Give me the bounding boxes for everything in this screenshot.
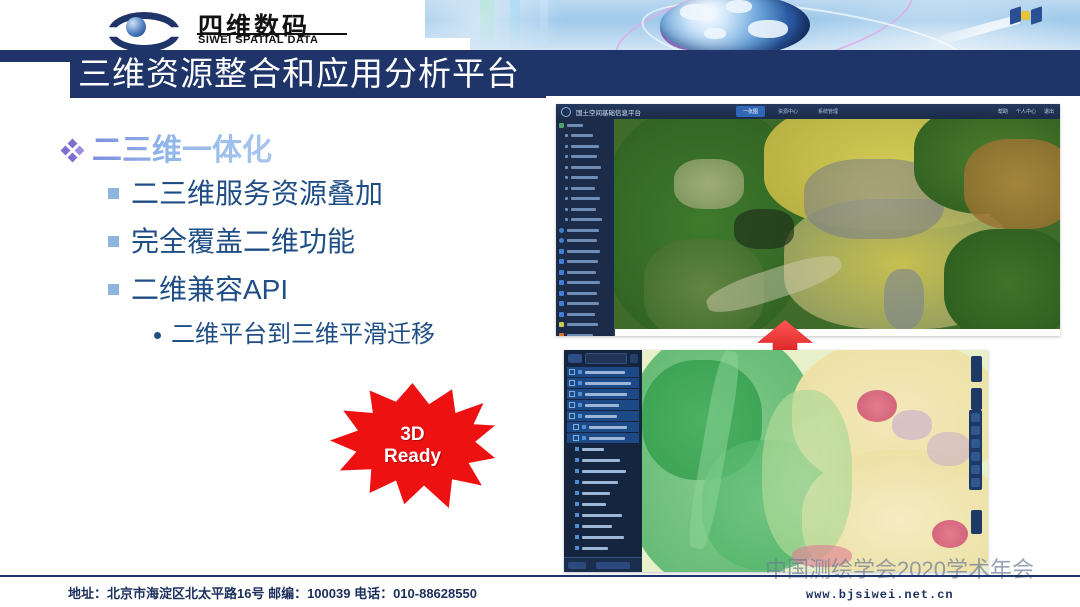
logout-action[interactable]: 退出 <box>1044 108 1054 115</box>
tree-group-row[interactable] <box>567 422 639 432</box>
tree-leaf-row[interactable] <box>567 510 639 520</box>
expand-icon[interactable] <box>573 424 579 430</box>
checkbox-icon[interactable] <box>575 535 579 539</box>
bullet-level1-label: 二三维一体化 <box>92 132 272 170</box>
zoom-icon[interactable] <box>971 465 980 474</box>
banner-light-ray <box>480 0 494 50</box>
checkbox-icon[interactable] <box>575 546 579 550</box>
checkbox-icon[interactable] <box>575 524 579 528</box>
sidebar-item[interactable] <box>559 257 611 266</box>
expand-icon[interactable] <box>569 402 575 408</box>
checkbox-icon[interactable] <box>575 491 579 495</box>
bullet-list: 二三维一体化 二三维服务资源叠加 完全覆盖二维功能 二维兼容API 二维平台到三… <box>62 132 532 358</box>
sidebar-item[interactable] <box>559 331 611 337</box>
bullet-level2: 完全覆盖二维功能 <box>108 220 532 268</box>
tab-resource-center[interactable]: 资源中心 <box>771 106 805 117</box>
globe-icon <box>561 107 571 117</box>
tree-group-row[interactable] <box>567 400 639 410</box>
checkbox-icon[interactable] <box>578 392 582 396</box>
app-nav-tabs: 一张图 资源中心 系统管理 <box>736 106 845 117</box>
badge-text: 3D Ready <box>330 383 495 508</box>
square-bullet-icon <box>108 236 119 247</box>
sidebar-item[interactable] <box>559 268 611 277</box>
tree-leaf-row[interactable] <box>567 488 639 498</box>
tree-leaf-row[interactable] <box>567 455 639 465</box>
sidebar-item[interactable] <box>559 310 611 319</box>
sidebar-item[interactable] <box>559 152 611 161</box>
title-bar-notch <box>0 62 70 96</box>
map-label-tag <box>971 388 982 410</box>
tree-leaf-row[interactable] <box>567 466 639 476</box>
sidebar-item[interactable] <box>559 278 611 287</box>
app-header-actions: 帮助 个人中心 退出 <box>998 108 1054 115</box>
footer-divider <box>756 575 1080 577</box>
bullet-level1: 二三维一体化 <box>62 132 532 172</box>
tree-group-row[interactable] <box>567 367 639 377</box>
checkbox-icon[interactable] <box>578 370 582 374</box>
map-toolbar[interactable] <box>969 410 982 490</box>
layers-icon[interactable] <box>971 413 980 422</box>
checkbox-icon[interactable] <box>575 447 579 451</box>
tree-leaf-row[interactable] <box>567 532 639 542</box>
tab-system-admin[interactable]: 系统管理 <box>811 106 845 117</box>
marker-icon[interactable] <box>971 439 980 448</box>
checkbox-icon[interactable] <box>582 436 586 440</box>
tree-leaf-row[interactable] <box>567 477 639 487</box>
checkbox-icon[interactable] <box>575 480 579 484</box>
panel-footer <box>564 557 642 572</box>
globe-icon <box>660 0 810 50</box>
sidebar-item[interactable] <box>559 205 611 214</box>
sidebar-item[interactable] <box>559 131 611 140</box>
layer-tree-sidebar[interactable] <box>556 119 615 336</box>
status-badge: 3D Ready <box>330 383 495 508</box>
user-center-action[interactable]: 个人中心 <box>1016 108 1036 115</box>
sidebar-item[interactable] <box>559 247 611 256</box>
tree-group-row[interactable] <box>567 433 639 443</box>
watermark: 中国测绘学会2020学术年会 <box>765 552 1034 584</box>
banner-light-ray <box>540 0 548 50</box>
header-banner: 四维数码 SIWEI SPATIAL DATA <box>0 0 1080 50</box>
landuse-map-canvas[interactable] <box>642 350 988 572</box>
checkbox-icon[interactable] <box>578 414 582 418</box>
search-input[interactable] <box>585 353 627 364</box>
layer-panel[interactable] <box>564 350 642 572</box>
badge-line2: Ready <box>384 446 441 468</box>
sidebar-item[interactable] <box>559 320 611 329</box>
sidebar-item[interactable] <box>559 142 611 151</box>
settings-icon[interactable] <box>971 478 980 487</box>
satellite-map-canvas[interactable] <box>614 119 1060 329</box>
diamond-cluster-icon <box>62 140 84 162</box>
magnifier-icon[interactable] <box>630 354 638 363</box>
help-action[interactable]: 帮助 <box>998 108 1008 115</box>
sidebar-item[interactable] <box>559 215 611 224</box>
reset-button[interactable] <box>568 562 586 569</box>
eye-globe-icon <box>108 9 166 41</box>
map-label-tag <box>971 510 982 534</box>
square-bullet-icon <box>108 284 119 295</box>
expand-icon[interactable] <box>569 369 575 375</box>
tree-leaf-row[interactable] <box>567 543 639 553</box>
banner-light-ray <box>510 0 520 50</box>
print-icon[interactable] <box>971 452 980 461</box>
expand-icon[interactable] <box>569 391 575 397</box>
sidebar-item[interactable] <box>559 226 611 235</box>
expand-icon[interactable] <box>573 435 579 441</box>
map-label-tag <box>971 356 982 382</box>
screenshot-2d-platform <box>564 350 988 572</box>
bullet-level3: 二维平台到三维平滑迁移 <box>154 316 532 358</box>
sidebar-item[interactable] <box>559 289 611 298</box>
page-title: 三维资源整合和应用分析平台 <box>78 54 558 94</box>
footer-contact: 地址：北京市海淀区北太平路16号 邮编：100039 电话：010-886285… <box>68 583 477 602</box>
satellite-icon <box>1010 4 1040 30</box>
sidebar-item[interactable] <box>559 194 611 203</box>
tree-leaf-row[interactable] <box>567 444 639 454</box>
tab-yizhangtu[interactable]: 一张图 <box>736 106 765 117</box>
tree-group-row[interactable] <box>567 389 639 399</box>
sidebar-item[interactable] <box>559 173 611 182</box>
sidebar-item[interactable] <box>559 184 611 193</box>
search-row[interactable] <box>568 353 638 364</box>
brand-name-en: SIWEI SPATIAL DATA <box>198 34 318 46</box>
checkbox-icon[interactable] <box>575 513 579 517</box>
app-title: 国土空间基础信息平台 <box>576 107 641 117</box>
bullet-level2: 二维兼容API <box>108 268 532 316</box>
screenshot-3d-platform: 国土空间基础信息平台 一张图 资源中心 系统管理 帮助 个人中心 退出 <box>556 104 1060 336</box>
update-stats-button[interactable] <box>596 562 630 569</box>
checkbox-icon[interactable] <box>582 425 586 429</box>
bullet-level3-label: 二维平台到三维平滑迁移 <box>171 316 435 354</box>
expand-icon[interactable] <box>569 380 575 386</box>
checkbox-icon[interactable] <box>578 403 582 407</box>
bullet-level2-label: 二维兼容API <box>131 268 288 312</box>
badge-line1: 3D <box>400 424 424 446</box>
app-header-bar: 国土空间基础信息平台 一张图 资源中心 系统管理 帮助 个人中心 退出 <box>556 104 1060 119</box>
tree-group-row[interactable] <box>567 378 639 388</box>
round-bullet-icon <box>154 332 161 339</box>
sidebar-item[interactable] <box>559 299 611 308</box>
tree-leaf-row[interactable] <box>567 521 639 531</box>
sidebar-item[interactable] <box>559 236 611 245</box>
sidebar-item[interactable] <box>559 163 611 172</box>
bullet-level2-label: 完全覆盖二维功能 <box>131 220 355 264</box>
checkbox-icon[interactable] <box>578 381 582 385</box>
measure-icon[interactable] <box>971 426 980 435</box>
expand-icon[interactable] <box>569 413 575 419</box>
footer-url: www.bjsiwei.net.cn <box>806 588 954 602</box>
checkbox-icon[interactable] <box>575 502 579 506</box>
checkbox-icon[interactable] <box>575 469 579 473</box>
square-bullet-icon <box>108 188 119 199</box>
bullet-level2: 二三维服务资源叠加 <box>108 172 532 220</box>
bullet-level2-label: 二三维服务资源叠加 <box>131 172 383 216</box>
sidebar-item[interactable] <box>559 121 611 130</box>
checkbox-icon[interactable] <box>575 458 579 462</box>
tree-group-row[interactable] <box>567 411 639 421</box>
title-underline <box>70 95 546 98</box>
tree-leaf-row[interactable] <box>567 499 639 509</box>
search-button[interactable] <box>568 354 582 363</box>
